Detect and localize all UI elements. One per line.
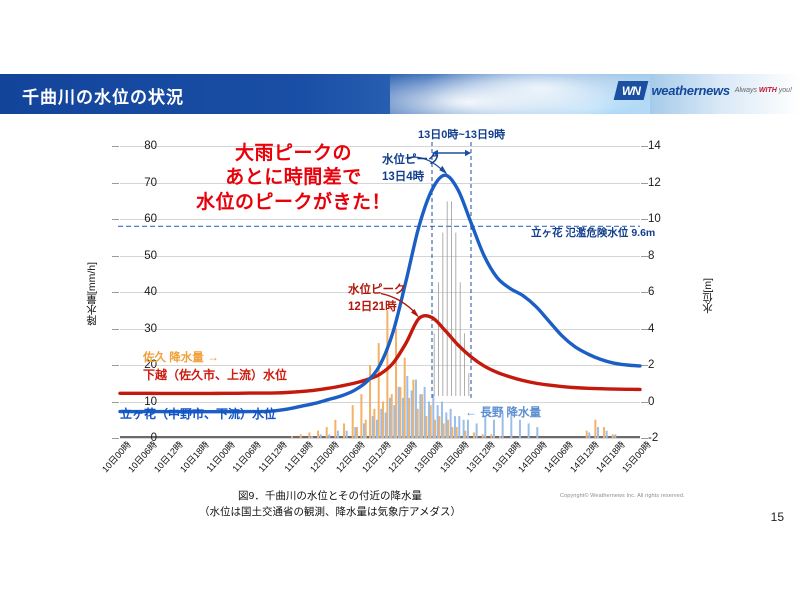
y2-tick-label: 12 xyxy=(648,177,688,189)
y2-tick-mark xyxy=(641,183,648,184)
y2-tick-mark xyxy=(641,146,648,147)
wn-logo-text: WN xyxy=(622,84,640,98)
wn-logo-icon: WN xyxy=(614,81,649,100)
y2-tick-label: 0 xyxy=(648,396,688,408)
headline-annotation: 大雨ピークのあとに時間差で水位のピークがきた！ xyxy=(196,142,391,215)
y-tick-label: 40 xyxy=(117,286,157,298)
y-tick-mark xyxy=(112,365,119,366)
y2-tick-mark xyxy=(641,329,648,330)
logo-wordmark: weathernews xyxy=(651,83,729,98)
y2-axis-label: 水位[m] xyxy=(700,278,715,314)
nagano-rain-label: ← 長野 降水量 xyxy=(465,404,541,420)
saku-rain-label: 佐久 降水量 → xyxy=(143,349,219,365)
y-tick-label: 80 xyxy=(117,140,157,152)
y-tick-mark xyxy=(112,219,119,220)
grid-line-secondary xyxy=(120,329,640,330)
y2-tick-label: 8 xyxy=(648,250,688,262)
blue-peak-line: 13日4時 xyxy=(382,169,440,186)
weathernews-logo: WN weathernews Always WITH you! xyxy=(616,81,792,100)
blue-peak-annotation: 水位ピーク13日4時 xyxy=(382,152,440,185)
red-peak-line: 12日21時 xyxy=(348,299,406,316)
logo-tagline: Always WITH you! xyxy=(735,87,792,94)
y-tick-label: 50 xyxy=(117,250,157,262)
y-tick-label: 60 xyxy=(117,213,157,225)
y2-tick-label: 14 xyxy=(648,140,688,152)
red-peak-line: 水位ピーク xyxy=(348,282,406,299)
y2-tick-mark xyxy=(641,365,648,366)
y2-tick-mark xyxy=(641,256,648,257)
red-peak-annotation: 水位ピーク12日21時 xyxy=(348,282,406,315)
y-tick-label: 70 xyxy=(117,177,157,189)
legend-blue-label: 立ヶ花（中野市、下流）水位 xyxy=(120,405,276,422)
grid-line-secondary xyxy=(120,256,640,257)
y-tick-mark xyxy=(112,402,119,403)
slide: 千曲川の水位の状況 WN weathernews Always WITH you… xyxy=(0,0,800,600)
headline-line: あとに時間差で xyxy=(196,166,391,190)
y-tick-mark xyxy=(112,329,119,330)
blue-peak-line: 水位ピーク xyxy=(382,152,440,169)
y-tick-mark xyxy=(112,146,119,147)
y2-tick-mark xyxy=(641,219,648,220)
y-tick-mark xyxy=(112,438,119,439)
copyright-text: Copyright© Weathernews Inc. All rights r… xyxy=(560,493,685,499)
y-tick-mark xyxy=(112,292,119,293)
caption-line-2: （水位は国土交通省の観測、降水量は気象庁アメダス） xyxy=(0,504,660,520)
y2-tick-label: -2 xyxy=(648,432,688,444)
y2-tick-mark xyxy=(641,402,648,403)
y-axis-label: 降水量[mm/h] xyxy=(84,262,99,326)
y2-tick-label: 4 xyxy=(648,323,688,335)
danger-level-label: 立ヶ花 氾濫危険水位 9.6m xyxy=(531,225,655,240)
y2-tick-label: 10 xyxy=(648,213,688,225)
y-tick-label: 30 xyxy=(117,323,157,335)
page-title: 千曲川の水位の状況 xyxy=(22,83,184,108)
y2-tick-label: 6 xyxy=(648,286,688,298)
grid-line-secondary xyxy=(120,402,640,403)
page-number: 15 xyxy=(771,510,784,524)
y2-tick-mark xyxy=(641,292,648,293)
headline-line: 大雨ピークの xyxy=(196,142,391,166)
grid-line-secondary xyxy=(120,219,640,220)
legend-red-label: 下越（佐久市、上流）水位 xyxy=(143,366,287,383)
span-label: 13日0時~13日9時 xyxy=(418,126,505,142)
cloud-graphic xyxy=(390,74,650,114)
y-tick-mark xyxy=(112,183,119,184)
y2-tick-label: 2 xyxy=(648,359,688,371)
y-tick-mark xyxy=(112,256,119,257)
headline-line: 水位のピークがきた！ xyxy=(196,191,391,215)
